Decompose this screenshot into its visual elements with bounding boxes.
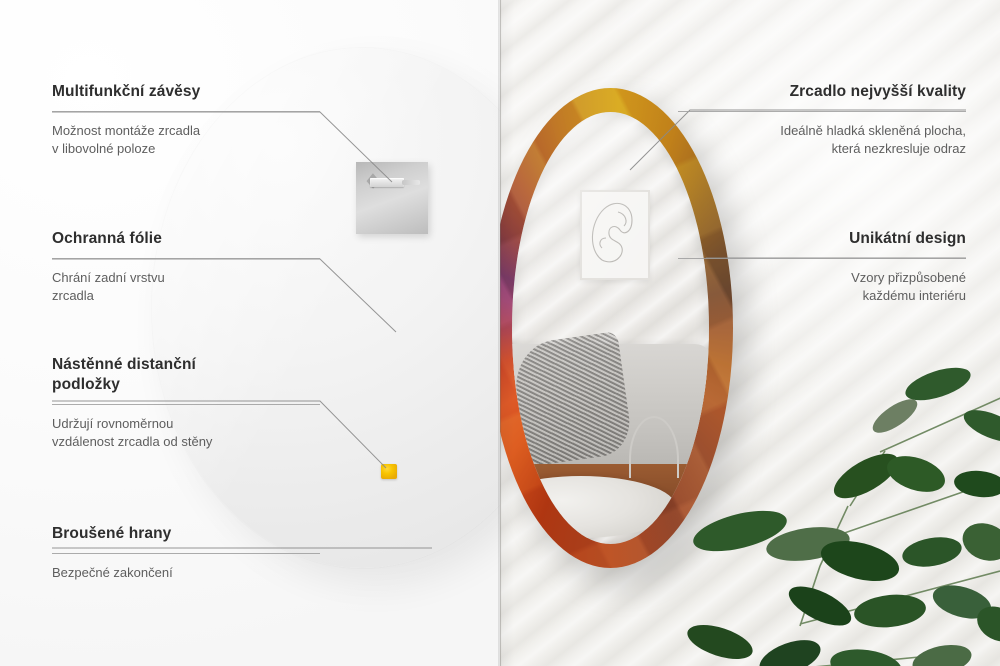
callout-title: Ochranná fólie <box>52 229 320 249</box>
callout-rule <box>678 111 966 112</box>
callout-title: Broušené hrany <box>52 524 320 544</box>
callout-description: Možnost montáže zrcadla v libovolné polo… <box>52 122 320 158</box>
reflected-throw-blanket <box>512 331 634 467</box>
hanging-bracket <box>356 162 428 234</box>
callout-rule <box>52 404 320 405</box>
line-art-face-icon <box>582 192 644 274</box>
panel-divider <box>500 0 501 666</box>
reflected-framed-line-art <box>580 190 650 280</box>
green-foliage <box>680 356 1000 666</box>
callout-unikatni-design: Unikátní design Vzory přizpůsobené každé… <box>678 229 966 305</box>
callout-description: Vzory přizpůsobené každému interiéru <box>678 269 966 305</box>
callout-description: Ideálně hladká skleněná plocha, která ne… <box>678 122 966 158</box>
callout-description: Bezpečné zakončení <box>52 564 320 582</box>
callout-title: Zrcadlo nejvyšší kvality <box>678 82 966 102</box>
callout-rule <box>678 258 966 259</box>
callout-ochranna-folie: Ochranná fólie Chrání zadní vrstvu zrcad… <box>52 229 320 305</box>
callout-title: Multifunkční závěsy <box>52 82 320 102</box>
callout-brousene-hrany: Broušené hrany Bezpečné zakončení <box>52 524 320 582</box>
callout-description: Chrání zadní vrstvu zrcadla <box>52 269 320 305</box>
callout-nastenne-distancni-podlozky: Nástěnné distanční podložky Udržují rovn… <box>52 355 320 451</box>
callout-multifunkcni-zavesy: Multifunkční závěsy Možnost montáže zrca… <box>52 82 320 158</box>
callout-rule <box>52 111 320 112</box>
callout-title: Nástěnné distanční podložky <box>52 355 320 395</box>
spacer-pad <box>381 464 397 479</box>
callout-rule <box>52 553 320 554</box>
callout-zrcadlo-nejvyssi-kvality: Zrcadlo nejvyšší kvality Ideálně hladká … <box>678 82 966 158</box>
infographic-stage: Multifunkční závěsy Možnost montáže zrca… <box>0 0 1000 666</box>
bracket-slot-icon <box>370 178 404 187</box>
callout-title: Unikátní design <box>678 229 966 249</box>
callout-description: Udržují rovnoměrnou vzdálenost zrcadla o… <box>52 415 320 451</box>
callout-rule <box>52 258 320 259</box>
